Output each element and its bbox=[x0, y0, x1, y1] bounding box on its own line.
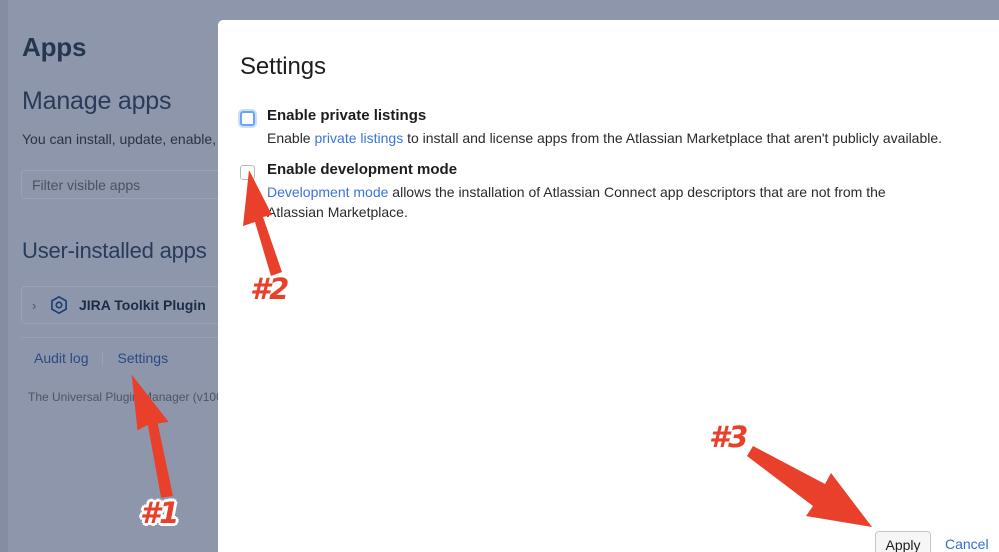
option-description-private-listings: Enable private listings to install and l… bbox=[267, 128, 945, 148]
private-listings-link[interactable]: private listings bbox=[314, 130, 403, 146]
option-enable-private-listings: Enable private listings Enable private l… bbox=[240, 106, 960, 148]
development-mode-link[interactable]: Development mode bbox=[267, 184, 388, 200]
cancel-button[interactable]: Cancel bbox=[945, 536, 989, 552]
settings-dialog: Settings Enable private listings Enable … bbox=[218, 20, 999, 552]
upm-version-note: The Universal Plugin Manager (v1001. bbox=[28, 390, 218, 404]
desc-text-before: Enable bbox=[267, 130, 314, 146]
apply-button[interactable]: Apply bbox=[875, 531, 931, 552]
annotation-marker-3: #3 bbox=[709, 420, 747, 454]
settings-link[interactable]: Settings bbox=[117, 350, 168, 366]
option-description-development-mode: Development mode allows the installation… bbox=[267, 182, 945, 222]
annotation-marker-1: #1 bbox=[140, 496, 178, 530]
screen-root: Apps Manage apps You can install, update… bbox=[0, 0, 999, 552]
filter-visible-apps-input[interactable] bbox=[21, 170, 218, 199]
manage-apps-description: You can install, update, enable, bbox=[22, 131, 216, 147]
plugin-card-divider bbox=[21, 337, 218, 338]
hexagon-app-icon bbox=[49, 295, 69, 315]
page-title: Apps bbox=[22, 32, 86, 63]
annotation-marker-2: #2 bbox=[250, 272, 288, 306]
plugin-row-jira-toolkit[interactable]: › JIRA Toolkit Plugin bbox=[21, 286, 218, 324]
chevron-right-icon[interactable]: › bbox=[32, 299, 46, 312]
option-enable-development-mode: Enable development mode Development mode… bbox=[240, 160, 960, 222]
user-installed-apps-heading: User-installed apps bbox=[22, 238, 207, 264]
plugin-name-label: JIRA Toolkit Plugin bbox=[79, 297, 206, 313]
desc-text-after: to install and license apps from the Atl… bbox=[403, 130, 942, 146]
checkbox-enable-development-mode[interactable] bbox=[240, 165, 255, 180]
checkbox-enable-private-listings[interactable] bbox=[240, 111, 255, 126]
manage-apps-heading: Manage apps bbox=[22, 87, 171, 116]
plugin-action-links: Audit log Settings bbox=[34, 350, 168, 366]
audit-log-link[interactable]: Audit log bbox=[34, 350, 88, 366]
dialog-title: Settings bbox=[240, 53, 326, 81]
apps-admin-page: Apps Manage apps You can install, update… bbox=[0, 0, 218, 552]
option-label-private-listings[interactable]: Enable private listings bbox=[267, 106, 960, 126]
option-label-development-mode[interactable]: Enable development mode bbox=[267, 160, 960, 180]
link-separator bbox=[102, 351, 103, 366]
